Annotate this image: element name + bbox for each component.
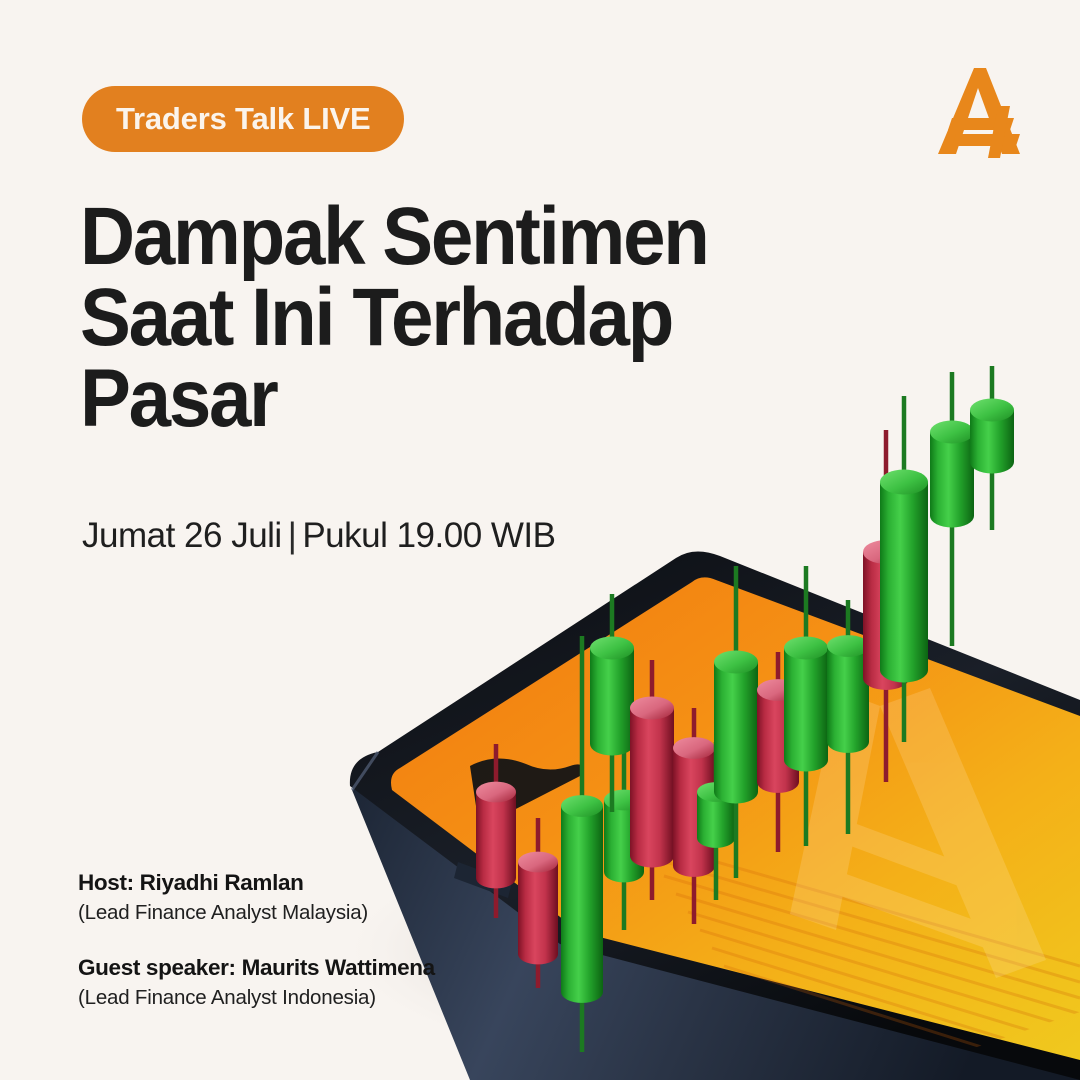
page-title: Dampak Sentimen Saat Ini Terhadap Pasar [80,196,787,440]
credit-host: Host: Riyadhi Ramlan (Lead Finance Analy… [78,868,435,927]
title-line-3: Pasar [80,358,787,439]
host-name: Host: Riyadhi Ramlan [78,868,435,897]
schedule-separator: | [282,516,303,555]
schedule-date: Jumat 26 Juli [82,516,282,555]
schedule-line: Jumat 26 Juli|Pukul 19.00 WIB [82,516,556,556]
guest-name: Guest speaker: Maurits Wattimena [78,953,435,982]
credits-block: Host: Riyadhi Ramlan (Lead Finance Analy… [78,868,435,1038]
host-role: (Lead Finance Analyst Malaysia) [78,899,435,927]
live-badge-label: Traders Talk LIVE [116,101,370,137]
poster-canvas: Traders Talk LIVE Dampak Sentimen Saat I… [0,0,1080,1080]
title-line-1: Dampak Sentimen [80,196,787,277]
candlestick [970,366,1014,530]
octa-a-logo-icon [928,62,1028,158]
title-line-2: Saat Ini Terhadap [80,277,787,358]
credit-guest: Guest speaker: Maurits Wattimena (Lead F… [78,953,435,1012]
live-badge: Traders Talk LIVE [82,86,404,152]
guest-role: (Lead Finance Analyst Indonesia) [78,984,435,1012]
candlestick [930,372,974,646]
schedule-time: Pukul 19.00 WIB [302,516,555,555]
